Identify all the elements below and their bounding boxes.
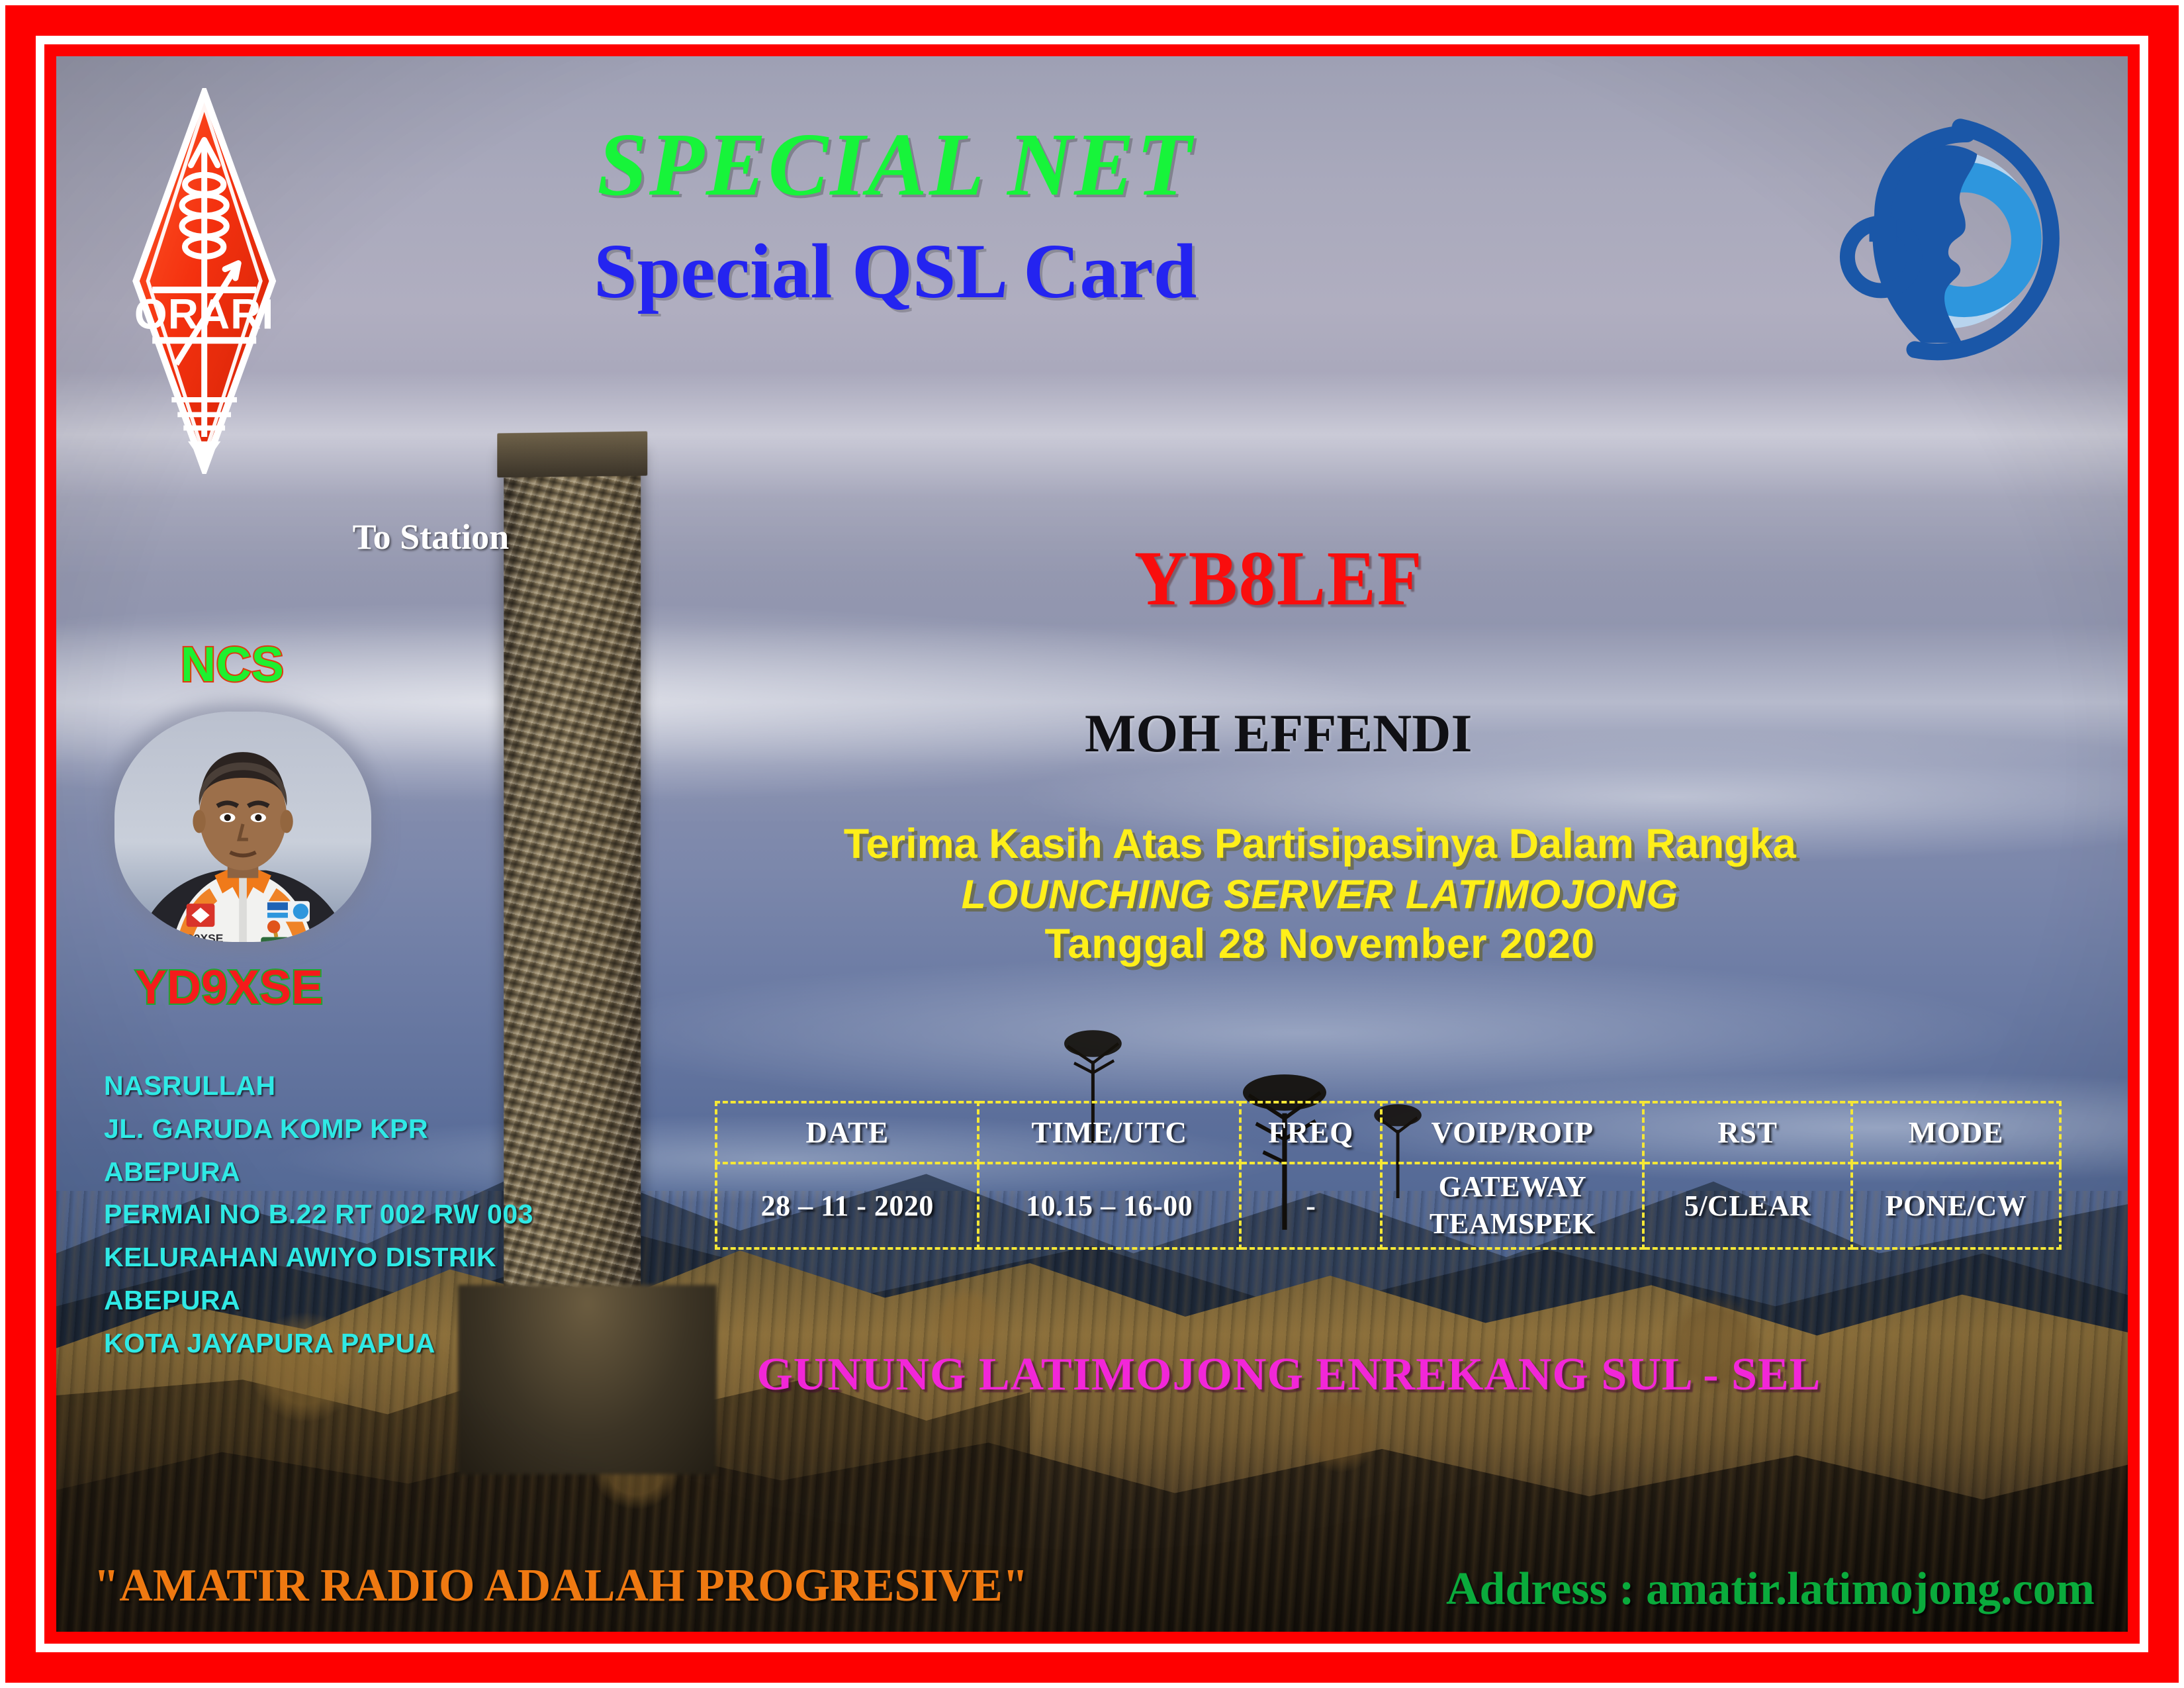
- operator-name: MOH EFFENDI: [905, 702, 1651, 765]
- cell-voip-line-2: TEAMSPEK: [1385, 1205, 1639, 1243]
- thanks-line-1: Terima Kasih Atas Partisipasinya Dalam R…: [740, 819, 1900, 870]
- to-station-label: To Station: [353, 516, 510, 557]
- address-line: ABEPURA: [104, 1150, 533, 1194]
- column-header-time-utc: TIME/UTC: [978, 1102, 1240, 1163]
- column-header-freq: FREQ: [1240, 1102, 1381, 1163]
- cell-voip-line-1: GATEWAY: [1385, 1168, 1639, 1205]
- address-line: KELURAHAN AWIYO DISTRIK: [104, 1236, 533, 1279]
- cell-voip-roip: GATEWAY TEAMSPEK: [1381, 1163, 1643, 1248]
- cell-time: 10.15 – 16-00: [978, 1163, 1240, 1248]
- white-border-gap: ORARI: [36, 36, 2148, 1652]
- thanks-block: Terima Kasih Atas Partisipasinya Dalam R…: [740, 819, 1900, 970]
- address-line: ABEPURA: [104, 1279, 533, 1322]
- column-header-mode: MODE: [1852, 1102, 2060, 1163]
- footer-web-address: Address : amatir.latimojong.com: [1446, 1563, 2095, 1616]
- column-header-rst: RST: [1643, 1102, 1852, 1163]
- svg-text:YD9XSE: YD9XSE: [177, 931, 223, 941]
- table-row: 28 – 11 - 2020 10.15 – 16-00 - GATEWAY T…: [716, 1163, 2060, 1248]
- footer-slogan: "AMATIR RADIO ADALAH PROGRESIVE": [93, 1560, 1028, 1613]
- location-line: GUNUNG LATIMOJONG ENREKANG SUL - SEL: [647, 1348, 1931, 1401]
- ncs-callsign: YD9XSE: [135, 961, 323, 1015]
- column-header-voip-roip: VOIP/ROIP: [1381, 1102, 1643, 1163]
- event-date-line: Tanggal 28 November 2020: [740, 919, 1900, 970]
- table-header-row: DATE TIME/UTC FREQ VOIP/ROIP RST MODE: [716, 1102, 2060, 1163]
- page-subtitle-qsl-card: Special QSL Card: [253, 226, 1537, 316]
- cell-mode: PONE/CW: [1852, 1163, 2060, 1248]
- background-photo: ORARI: [56, 56, 2128, 1632]
- cell-date: 28 – 11 - 2020: [716, 1163, 978, 1248]
- address-line: JL. GARUDA KOMP KPR: [104, 1107, 533, 1150]
- address-line: NASRULLAH: [104, 1064, 533, 1107]
- qsl-card: ORARI: [0, 0, 2184, 1688]
- mailing-address-block: NASRULLAH JL. GARUDA KOMP KPR ABEPURA PE…: [104, 1064, 533, 1364]
- cell-freq: -: [1240, 1163, 1381, 1248]
- outer-red-border: ORARI: [5, 5, 2179, 1683]
- ncs-label: NCS: [181, 636, 284, 692]
- headset-profile-waves-logo: [1834, 85, 2087, 392]
- address-line: KOTA JAYAPURA PAPUA: [104, 1322, 533, 1365]
- cell-rst: 5/CLEAR: [1643, 1163, 1852, 1248]
- column-header-date: DATE: [716, 1102, 978, 1163]
- address-line: PERMAI NO B.22 RT 002 RW 003: [104, 1193, 533, 1236]
- card-content-layer: ORARI: [56, 56, 2128, 1632]
- qso-data-table: DATE TIME/UTC FREQ VOIP/ROIP RST MODE: [715, 1101, 2062, 1250]
- station-callsign: YB8LEF: [948, 534, 1610, 624]
- inner-red-border: ORARI: [44, 44, 2140, 1644]
- operator-avatar: YD9XSE: [114, 712, 371, 941]
- event-name-line: LOUNCHING SERVER LATIMOJONG: [740, 870, 1900, 919]
- page-title-special-net: SPECIAL NET: [253, 113, 1537, 216]
